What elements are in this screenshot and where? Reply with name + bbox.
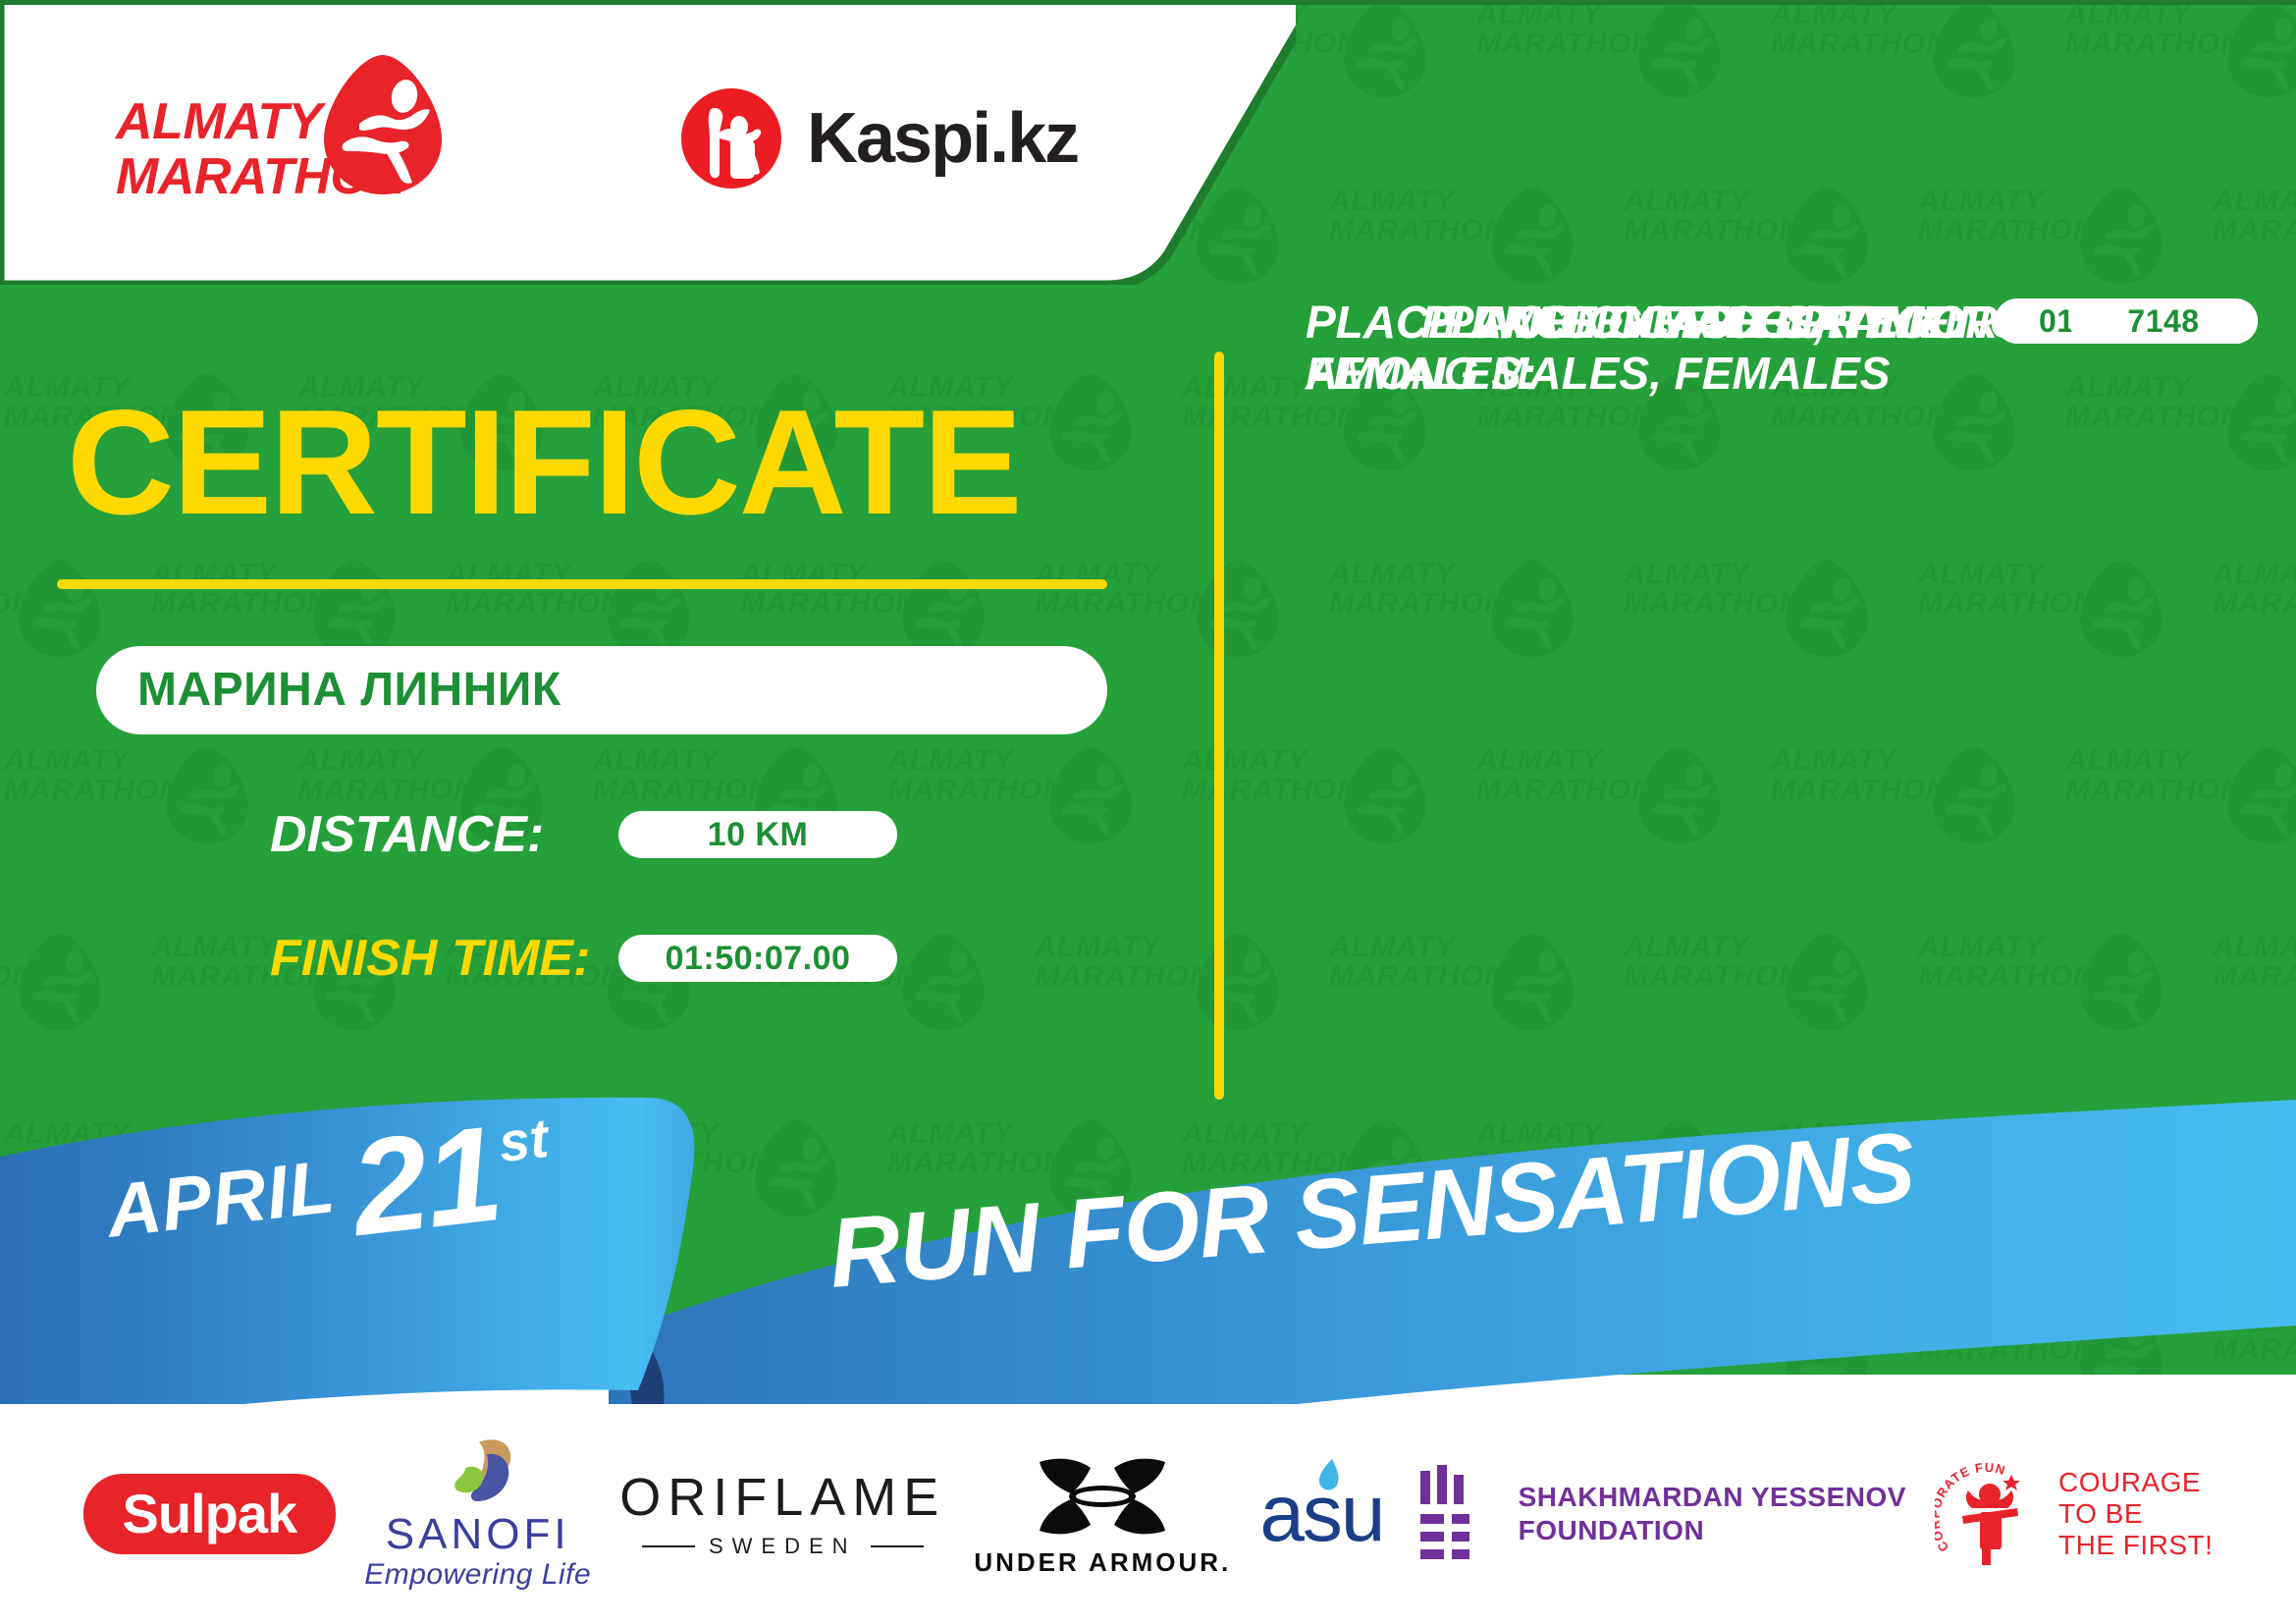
watermark-drop-icon — [1932, 0, 2016, 100]
watermark-drop-icon — [1048, 371, 1133, 473]
watermark-drop-icon — [1343, 0, 1427, 100]
watermark-line1: ALMATY — [2209, 187, 2296, 216]
under-armour-wordmark: UNDER ARMOUR. — [974, 1548, 1231, 1576]
watermark-drop-icon — [2079, 558, 2163, 660]
oriflame-rule-left — [642, 1545, 695, 1547]
watermark-line1: ALMATY — [1620, 933, 1875, 962]
watermark-tile: ALMATYMARATHON — [1914, 933, 2169, 992]
watermark-drop-icon — [2079, 185, 2163, 287]
courage-wordmark: COURAGE TO BE THE FIRST! — [2058, 1467, 2213, 1561]
asu-droplet-icon — [1310, 1457, 1344, 1496]
watermark-line2: MARATHON — [1472, 403, 1728, 432]
overall-ranking-value-pill: 7148 — [2069, 298, 2258, 344]
watermark-drop-icon — [2226, 744, 2296, 846]
almaty-runner-drop-icon — [322, 53, 444, 196]
watermark-line2: MARATHON — [1620, 216, 1875, 245]
finish-time-label: FINISH TIME: — [270, 931, 618, 986]
watermark-line2: MARATHON — [2061, 403, 2296, 432]
watermark-drop-icon — [1490, 185, 1575, 287]
watermark-line2: MARATHON — [1031, 962, 1286, 992]
watermark-line2: MARATHON — [1767, 403, 2022, 432]
watermark-tile: ALMATYMARATHON — [1914, 560, 2169, 619]
watermark-line2: MARATHON — [2209, 962, 2296, 992]
watermark-line2: MARATHON — [1325, 589, 1580, 619]
watermark-line2: MARATHON — [1914, 216, 2169, 245]
finish-time-row: FINISH TIME: 01:50:07.00 — [270, 931, 897, 986]
watermark-line2: MARATHON — [1325, 216, 1580, 245]
watermark-tile: ALMATYMARATHON — [294, 746, 550, 805]
watermark-line2: MARATHON — [883, 776, 1139, 805]
courage-line3: THE FIRST! — [2058, 1530, 2213, 1561]
watermark-drop-icon — [1785, 558, 1869, 660]
watermark-line2: MARATHON — [589, 776, 844, 805]
watermark-drop-icon — [1048, 744, 1133, 846]
almaty-line-1: ALMATY — [116, 93, 322, 150]
watermark-line2: MARATHON — [2209, 216, 2296, 245]
watermark-tile: ALMATYMARATHON — [0, 933, 108, 992]
watermark-line2: MARATHON — [2061, 776, 2296, 805]
watermark-line1: ALMATY — [1325, 933, 1580, 962]
watermark-drop-icon — [1490, 558, 1575, 660]
watermark-tile: ALMATYMARATHON — [2209, 560, 2296, 619]
watermark-tile: ALMATYMARATHON — [589, 746, 844, 805]
watermark-drop-icon — [1785, 931, 1869, 1033]
sanofi-mark-icon — [436, 1436, 520, 1507]
yessenov-line2: FOUNDATION — [1519, 1514, 1906, 1547]
distance-row: DISTANCE: 10 KM — [270, 807, 897, 862]
watermark-line1: ALMATY — [1620, 187, 1875, 216]
oriflame-rule-right — [871, 1545, 924, 1547]
page-title: CERTIFICATE — [67, 388, 1021, 537]
watermark-drop-icon — [901, 558, 986, 660]
result-row-overall: PLACE OVERALL RANKING: 7148 — [1276, 295, 2258, 348]
sanofi-tagline: Empowering Life — [364, 1558, 591, 1592]
watermark-drop-icon — [2079, 931, 2163, 1033]
top-rule — [0, 0, 2296, 5]
distance-value: 10 KM — [708, 818, 809, 851]
overall-ranking-label: PLACE OVERALL RANKING: — [1276, 295, 2069, 348]
watermark-line1: ALMATY — [589, 746, 844, 776]
certificate-page: ALMATYMARATHONALMATYMARATHONALMATYMARATH… — [0, 0, 2296, 1624]
watermark-tile: ALMATYMARATHON — [2061, 0, 2296, 59]
watermark-line2: MARATHON — [1325, 962, 1580, 992]
watermark-tile: ALMATYMARATHON — [442, 560, 697, 619]
watermark-drop-icon — [607, 558, 691, 660]
watermark-line2: MARATHON — [0, 776, 255, 805]
watermark-line2: MARATHON — [1767, 776, 2022, 805]
watermark-drop-icon — [1490, 931, 1575, 1033]
watermark-tile: ALMATYMARATHON — [2209, 933, 2296, 992]
watermark-line1: ALMATY — [883, 746, 1139, 776]
under-armour-icon — [1034, 1452, 1171, 1541]
asu-wordmark: asu — [1259, 1473, 1383, 1555]
watermark-tile: ALMATYMARATHON — [1031, 933, 1286, 992]
sponsor-asu: asu — [1259, 1473, 1383, 1555]
sponsor-yessenov-foundation: SHAKHMARDAN YESSENOV FOUNDATION — [1413, 1465, 1906, 1563]
watermark-line2: MARATHON — [2061, 29, 2296, 59]
courage-fund-icon: CORPORATE FUND — [1935, 1455, 2043, 1573]
watermark-line1: ALMATY — [1325, 560, 1580, 589]
watermark-line2: MARATHON — [147, 589, 402, 619]
watermark-line2: MARATHON — [1472, 29, 1728, 59]
watermark-tile: ALMATYMARATHON — [883, 746, 1139, 805]
watermark-tile: ALMATYMARATHON — [0, 746, 255, 805]
watermark-line1: ALMATY — [1325, 187, 1580, 216]
watermark-line1: ALMATY — [1914, 560, 2169, 589]
participant-name: МАРИНА ЛИННИК — [137, 664, 561, 717]
watermark-tile: ALMATYMARATHON — [147, 560, 402, 619]
watermark-drop-icon — [1637, 744, 1722, 846]
watermark-line1: ALMATY — [1914, 933, 2169, 962]
distance-label: DISTANCE: — [270, 807, 618, 862]
sponsor-under-armour: UNDER ARMOUR. — [974, 1452, 1231, 1576]
yessenov-mark-icon — [1413, 1465, 1497, 1563]
watermark-line2: MARATHON — [2209, 589, 2296, 619]
logo-row: ALMATY MARATHON Kaspi.kz — [0, 0, 1178, 275]
watermark-tile: ALMATYMARATHON — [1031, 560, 1286, 619]
kaspi-wordmark: Kaspi.kz — [807, 98, 1078, 179]
watermark-tile: ALMATYMARATHON — [1325, 187, 1580, 245]
watermark-drop-icon — [1196, 558, 1280, 660]
watermark-tile: ALMATYMARATHON — [1767, 0, 2022, 59]
watermark-line2: MARATHON — [1767, 29, 2022, 59]
watermark-line2: MARATHON — [1620, 962, 1875, 992]
sanofi-wordmark: SANOFI — [386, 1511, 570, 1558]
watermark-line1: ALMATY — [1031, 933, 1286, 962]
oriflame-sub: SWEDEN — [642, 1534, 924, 1559]
sponsor-sulpak: Sulpak — [83, 1474, 337, 1554]
watermark-tile: ALMATYMARATHON — [2061, 746, 2296, 805]
watermark-line1: ALMATY — [1914, 187, 2169, 216]
watermark-drop-icon — [1932, 744, 2016, 846]
watermark-line1: ALMATY — [1767, 746, 2022, 776]
among-gender-label-line2: FEMALES: — [1306, 348, 2069, 399]
event-ribbon: APRIL 21 st RUN FOR SENSATIONS — [0, 1041, 2296, 1453]
watermark-line2: MARATHON — [1472, 776, 1728, 805]
watermark-drop-icon — [312, 558, 397, 660]
watermark-line2: MARATHON — [1914, 589, 2169, 619]
title-divider — [57, 579, 1107, 589]
courage-line1: COURAGE — [2058, 1467, 2213, 1498]
finish-time-value-pill: 01:50:07.00 — [618, 935, 897, 982]
watermark-line1: ALMATY — [2209, 560, 2296, 589]
almaty-marathon-logo: ALMATY MARATHON — [116, 57, 440, 214]
watermark-line1: ALMATY — [1472, 746, 1728, 776]
yessenov-line1: SHAKHMARDAN YESSENOV — [1519, 1481, 1906, 1514]
watermark-drop-icon — [1196, 931, 1280, 1033]
watermark-line1: ALMATY — [2061, 746, 2296, 776]
watermark-drop-icon — [901, 931, 986, 1033]
watermark-tile: ALMATYMARATHON — [1325, 560, 1580, 619]
sponsor-sanofi: SANOFI Empowering Life — [364, 1436, 591, 1592]
watermark-drop-icon — [18, 931, 102, 1033]
yessenov-wordmark: SHAKHMARDAN YESSENOV FOUNDATION — [1519, 1481, 1906, 1547]
watermark-tile: ALMATYMARATHON — [1620, 933, 1875, 992]
watermark-tile: ALMATYMARATHON — [1767, 746, 2022, 805]
sponsor-oriflame: ORIFLAME SWEDEN — [619, 1469, 945, 1559]
watermark-tile: ALMATYMARATHON — [1620, 560, 1875, 619]
watermark-tile: ALMATYMARATHON — [1620, 187, 1875, 245]
watermark-drop-icon — [1785, 185, 1869, 287]
event-day: 21 — [346, 1110, 506, 1253]
event-month: APRIL — [101, 1128, 342, 1272]
watermark-line1: ALMATY — [2209, 933, 2296, 962]
watermark-line2: MARATHON — [1620, 589, 1875, 619]
watermark-line2: MARATHON — [1031, 589, 1286, 619]
watermark-tile: ALMATYMARATHON — [1472, 0, 1728, 59]
overall-ranking-value: 7148 — [2127, 305, 2199, 337]
oriflame-wordmark: ORIFLAME — [619, 1469, 945, 1526]
column-divider — [1214, 352, 1224, 1100]
watermark-line1: ALMATY — [0, 746, 255, 776]
watermark-drop-icon — [1637, 0, 1722, 100]
oriflame-country: SWEDEN — [709, 1534, 857, 1559]
watermark-tile: ALMATYMARATHON — [1914, 187, 2169, 245]
watermark-line2: MARATHON — [0, 589, 108, 619]
watermark-tile: ALMATYMARATHON — [736, 560, 991, 619]
watermark-drop-icon — [165, 744, 249, 846]
watermark-line2: MARATHON — [294, 776, 550, 805]
watermark-tile: ALMATYMARATHON — [1472, 746, 1728, 805]
watermark-tile: ALMATYMARATHON — [0, 560, 108, 619]
watermark-drop-icon — [2226, 0, 2296, 100]
finish-time-value: 01:50:07.00 — [666, 942, 851, 975]
watermark-line2: MARATHON — [736, 589, 991, 619]
watermark-line2: MARATHON — [1914, 962, 2169, 992]
sulpak-wordmark: Sulpak — [83, 1474, 337, 1554]
watermark-tile: ALMATYMARATHON — [2209, 187, 2296, 245]
event-day-suffix: st — [496, 1108, 551, 1173]
watermark-line2: MARATHON — [442, 589, 697, 619]
kaspi-logo: Kaspi.kz — [679, 86, 1078, 190]
sponsor-bar: Sulpak SANOFI Empowering Life ORIFLAME S… — [0, 1404, 2296, 1624]
kaspi-family-icon — [679, 86, 783, 190]
watermark-line1: ALMATY — [1620, 560, 1875, 589]
watermark-line1: ALMATY — [0, 933, 108, 962]
sponsor-courage-fund: CORPORATE FUND COURAGE TO BE THE FIRST! — [1935, 1455, 2213, 1573]
watermark-drop-icon — [1343, 744, 1427, 846]
distance-value-pill: 10 KM — [618, 811, 897, 858]
watermark-tile: ALMATYMARATHON — [1325, 933, 1580, 992]
watermark-line2: MARATHON — [0, 962, 108, 992]
courage-line2: TO BE — [2058, 1498, 2213, 1530]
watermark-line1: ALMATY — [294, 746, 550, 776]
watermark-drop-icon — [18, 558, 102, 660]
